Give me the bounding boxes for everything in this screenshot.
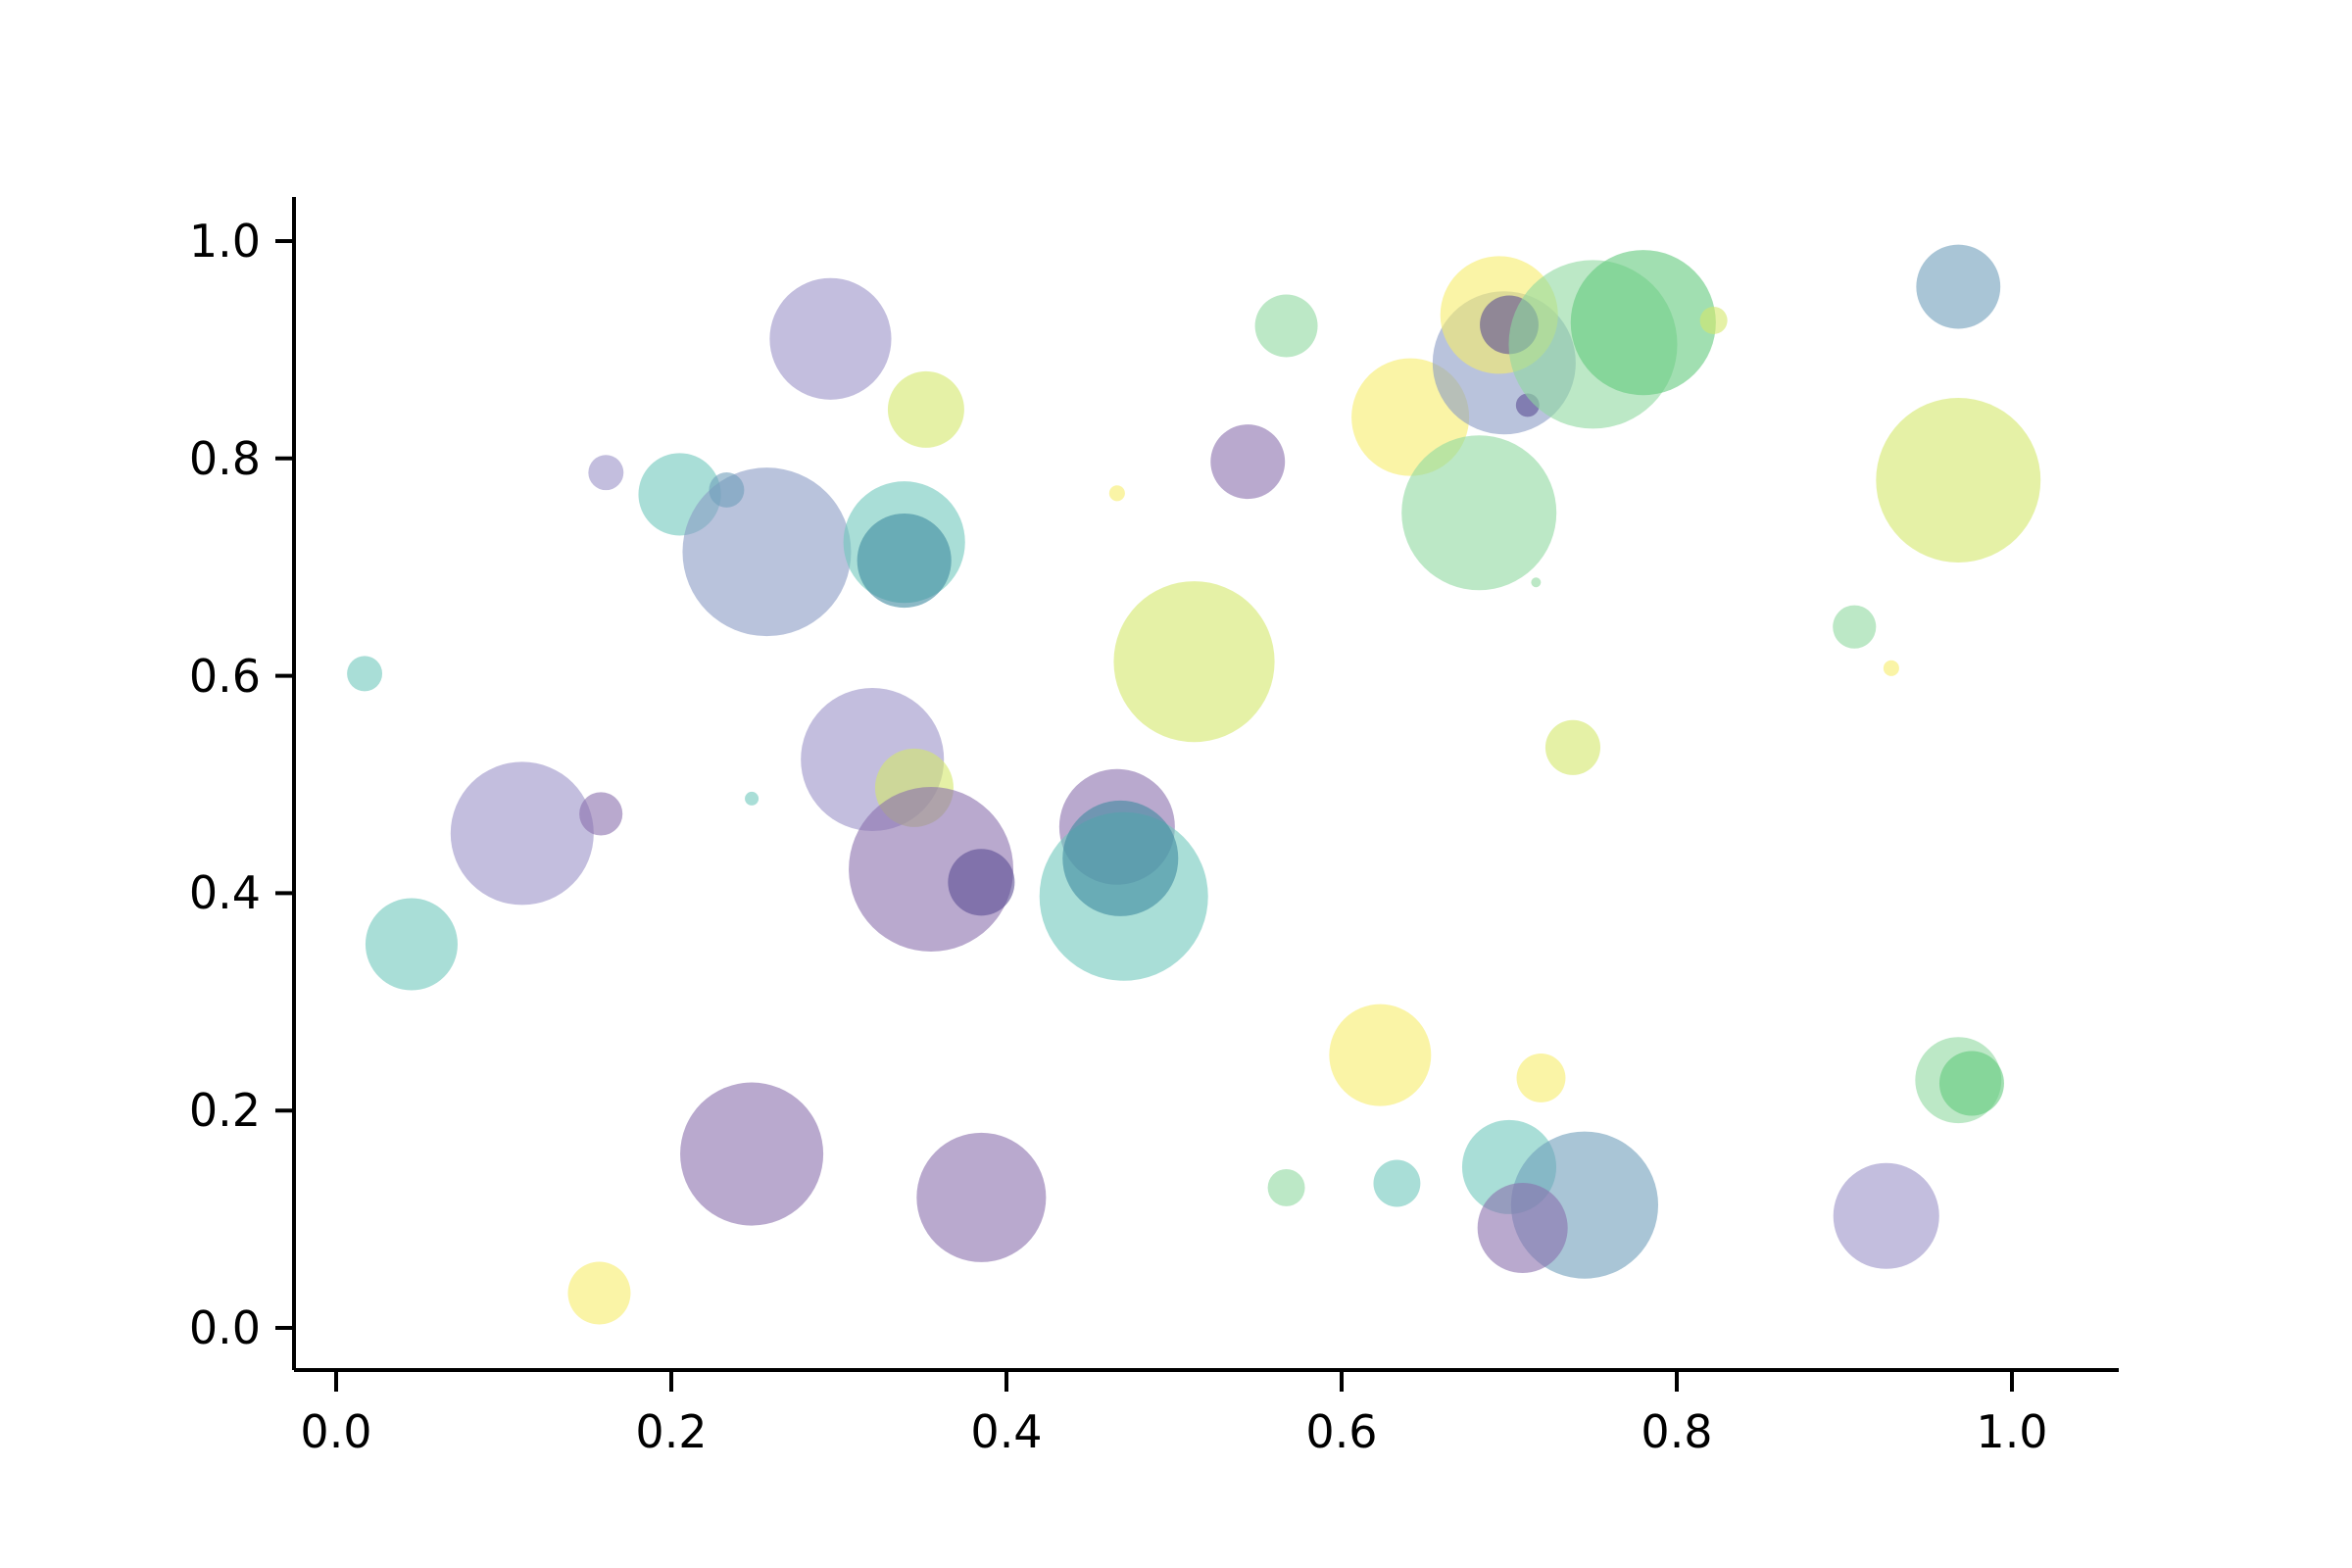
bubble-point bbox=[588, 455, 623, 490]
x-tick-label: 0.4 bbox=[970, 1409, 1042, 1454]
bubble-point bbox=[1833, 606, 1876, 649]
bubble-point bbox=[567, 1262, 630, 1325]
bubble-series bbox=[347, 245, 2040, 1325]
bubble-point bbox=[916, 1133, 1046, 1262]
bubble-point bbox=[1939, 1051, 2004, 1115]
bubble-point bbox=[1401, 435, 1556, 590]
bubble-point bbox=[1834, 1163, 1939, 1269]
bubble-point bbox=[1478, 1183, 1568, 1273]
bubble-point bbox=[347, 656, 382, 691]
x-tick-label: 0.0 bbox=[300, 1409, 371, 1454]
bubble-point bbox=[1884, 661, 1899, 676]
bubble-point bbox=[1531, 577, 1541, 587]
bubble-point bbox=[1109, 485, 1125, 501]
bubble-point bbox=[1916, 245, 2000, 329]
y-tick-label: 1.0 bbox=[189, 219, 261, 264]
x-tick-label: 0.6 bbox=[1305, 1409, 1377, 1454]
y-tick-label: 0.8 bbox=[189, 436, 261, 481]
bubble-point bbox=[579, 792, 622, 835]
bubble-point bbox=[1571, 250, 1716, 395]
bubble-point bbox=[366, 899, 458, 991]
scatter-plot bbox=[0, 0, 2352, 1568]
bubble-point bbox=[1545, 720, 1600, 775]
bubble-point bbox=[1876, 398, 2040, 563]
bubble-point bbox=[1268, 1169, 1305, 1206]
bubble-point bbox=[1373, 1160, 1420, 1207]
y-tick-label: 0.2 bbox=[189, 1088, 261, 1133]
bubble-point bbox=[948, 849, 1014, 915]
bubble-point bbox=[680, 1083, 823, 1226]
bubble-point bbox=[709, 472, 744, 508]
bubble-point bbox=[888, 371, 964, 448]
x-tick-label: 1.0 bbox=[1976, 1409, 2047, 1454]
bubble-point bbox=[1517, 1053, 1566, 1102]
bubble-point bbox=[1329, 1004, 1431, 1106]
figure-canvas: 0.00.20.40.60.81.00.00.20.40.60.81.0 bbox=[0, 0, 2352, 1568]
bubble-point bbox=[1700, 307, 1728, 334]
bubble-point bbox=[451, 761, 594, 905]
y-tick-label: 0.6 bbox=[189, 654, 261, 699]
bubble-point bbox=[745, 792, 759, 806]
x-tick-label: 0.2 bbox=[635, 1409, 707, 1454]
bubble-point bbox=[1255, 295, 1318, 358]
bubble-point bbox=[682, 467, 851, 636]
bubble-point bbox=[1113, 581, 1274, 742]
bubble-point bbox=[1062, 801, 1178, 916]
x-tick-label: 0.8 bbox=[1641, 1409, 1712, 1454]
y-tick-label: 0.0 bbox=[189, 1305, 261, 1350]
bubble-point bbox=[769, 278, 891, 400]
bubble-point bbox=[857, 514, 952, 608]
y-tick-label: 0.4 bbox=[189, 870, 261, 915]
bubble-point bbox=[1210, 424, 1285, 499]
